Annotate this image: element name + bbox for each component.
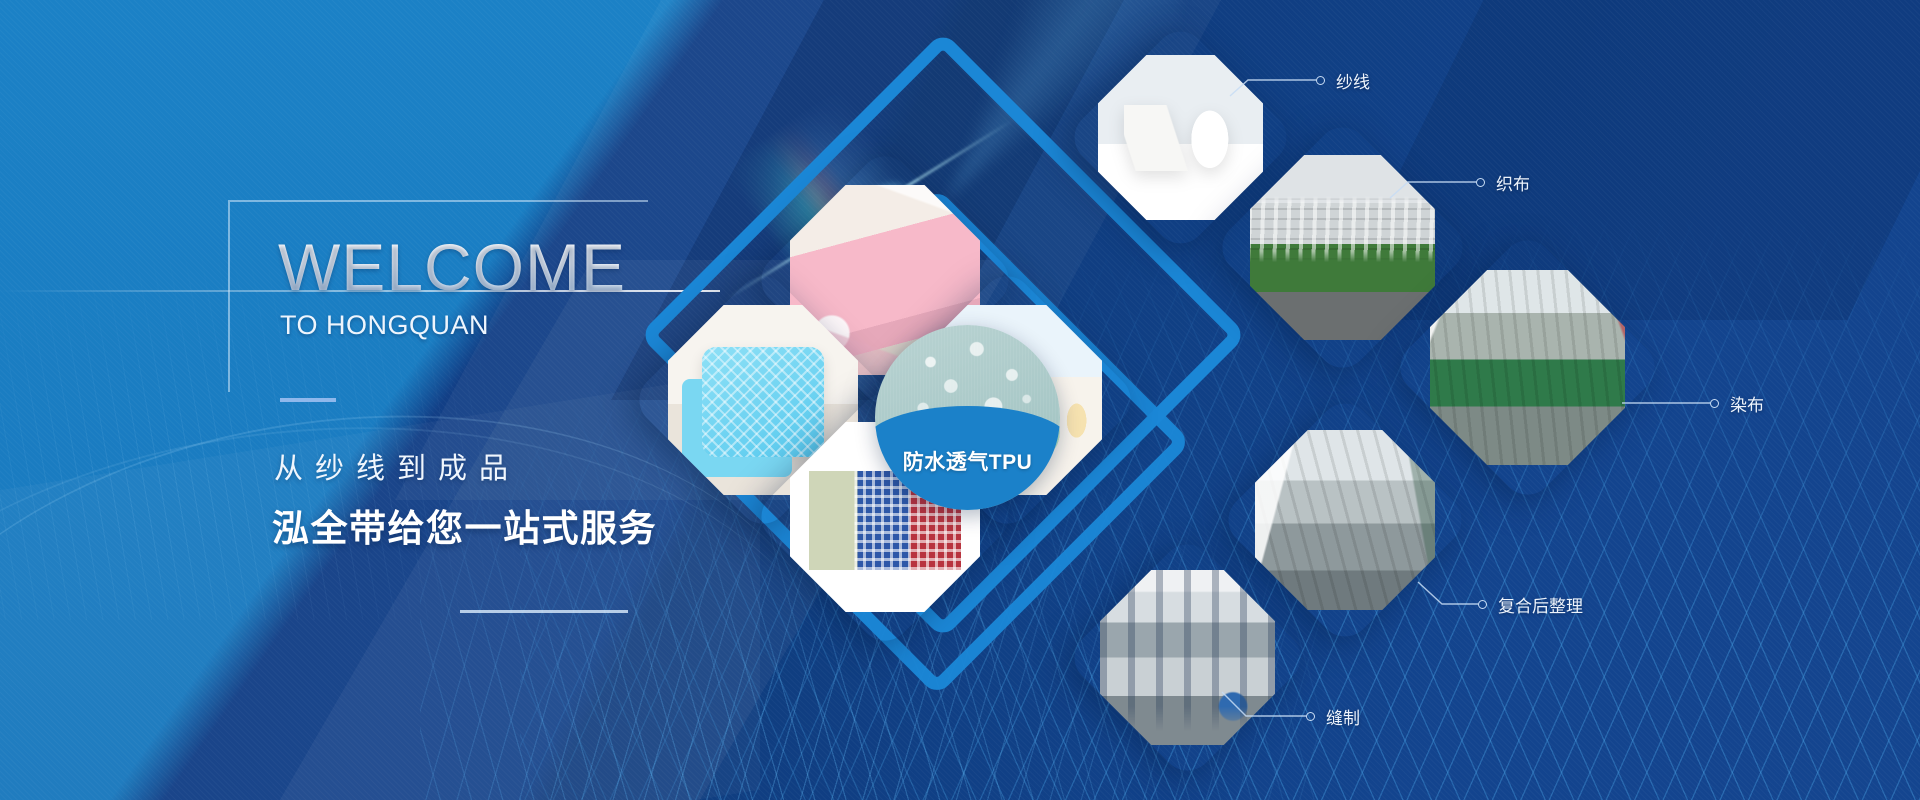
page-subtitle: TO HONGQUAN <box>280 310 489 341</box>
hero-banner: WELCOME TO HONGQUAN 从纱线到成品 泓全带给您一站式服务 防水… <box>0 0 1920 800</box>
callout-label: 纱线 <box>1336 68 1370 93</box>
callout-leader-line <box>1222 690 1332 740</box>
callout-label: 复合后整理 <box>1498 592 1583 617</box>
dyeing-photo <box>1430 270 1625 465</box>
callout-label: 织布 <box>1496 170 1530 195</box>
badge-label: 防水透气TPU <box>875 446 1060 476</box>
laminating-photo <box>1255 430 1435 610</box>
callout-dot-icon <box>1476 178 1485 187</box>
callout-label: 缝制 <box>1326 704 1360 729</box>
accent-rule <box>280 398 336 402</box>
callout-dot-icon <box>1478 600 1487 609</box>
tagline-light: 从纱线到成品 <box>274 445 520 487</box>
callout-leader-line <box>1622 392 1722 412</box>
tagline-bold: 泓全带给您一站式服务 <box>272 498 657 552</box>
bottom-divider <box>460 610 628 613</box>
page-title: WELCOME <box>278 234 626 300</box>
status-badge[interactable]: 防水透气TPU <box>875 325 1060 510</box>
callout-dot-icon <box>1306 712 1315 721</box>
callout-label: 染布 <box>1730 391 1764 416</box>
callout-dot-icon <box>1710 399 1719 408</box>
callout-dot-icon <box>1316 76 1325 85</box>
